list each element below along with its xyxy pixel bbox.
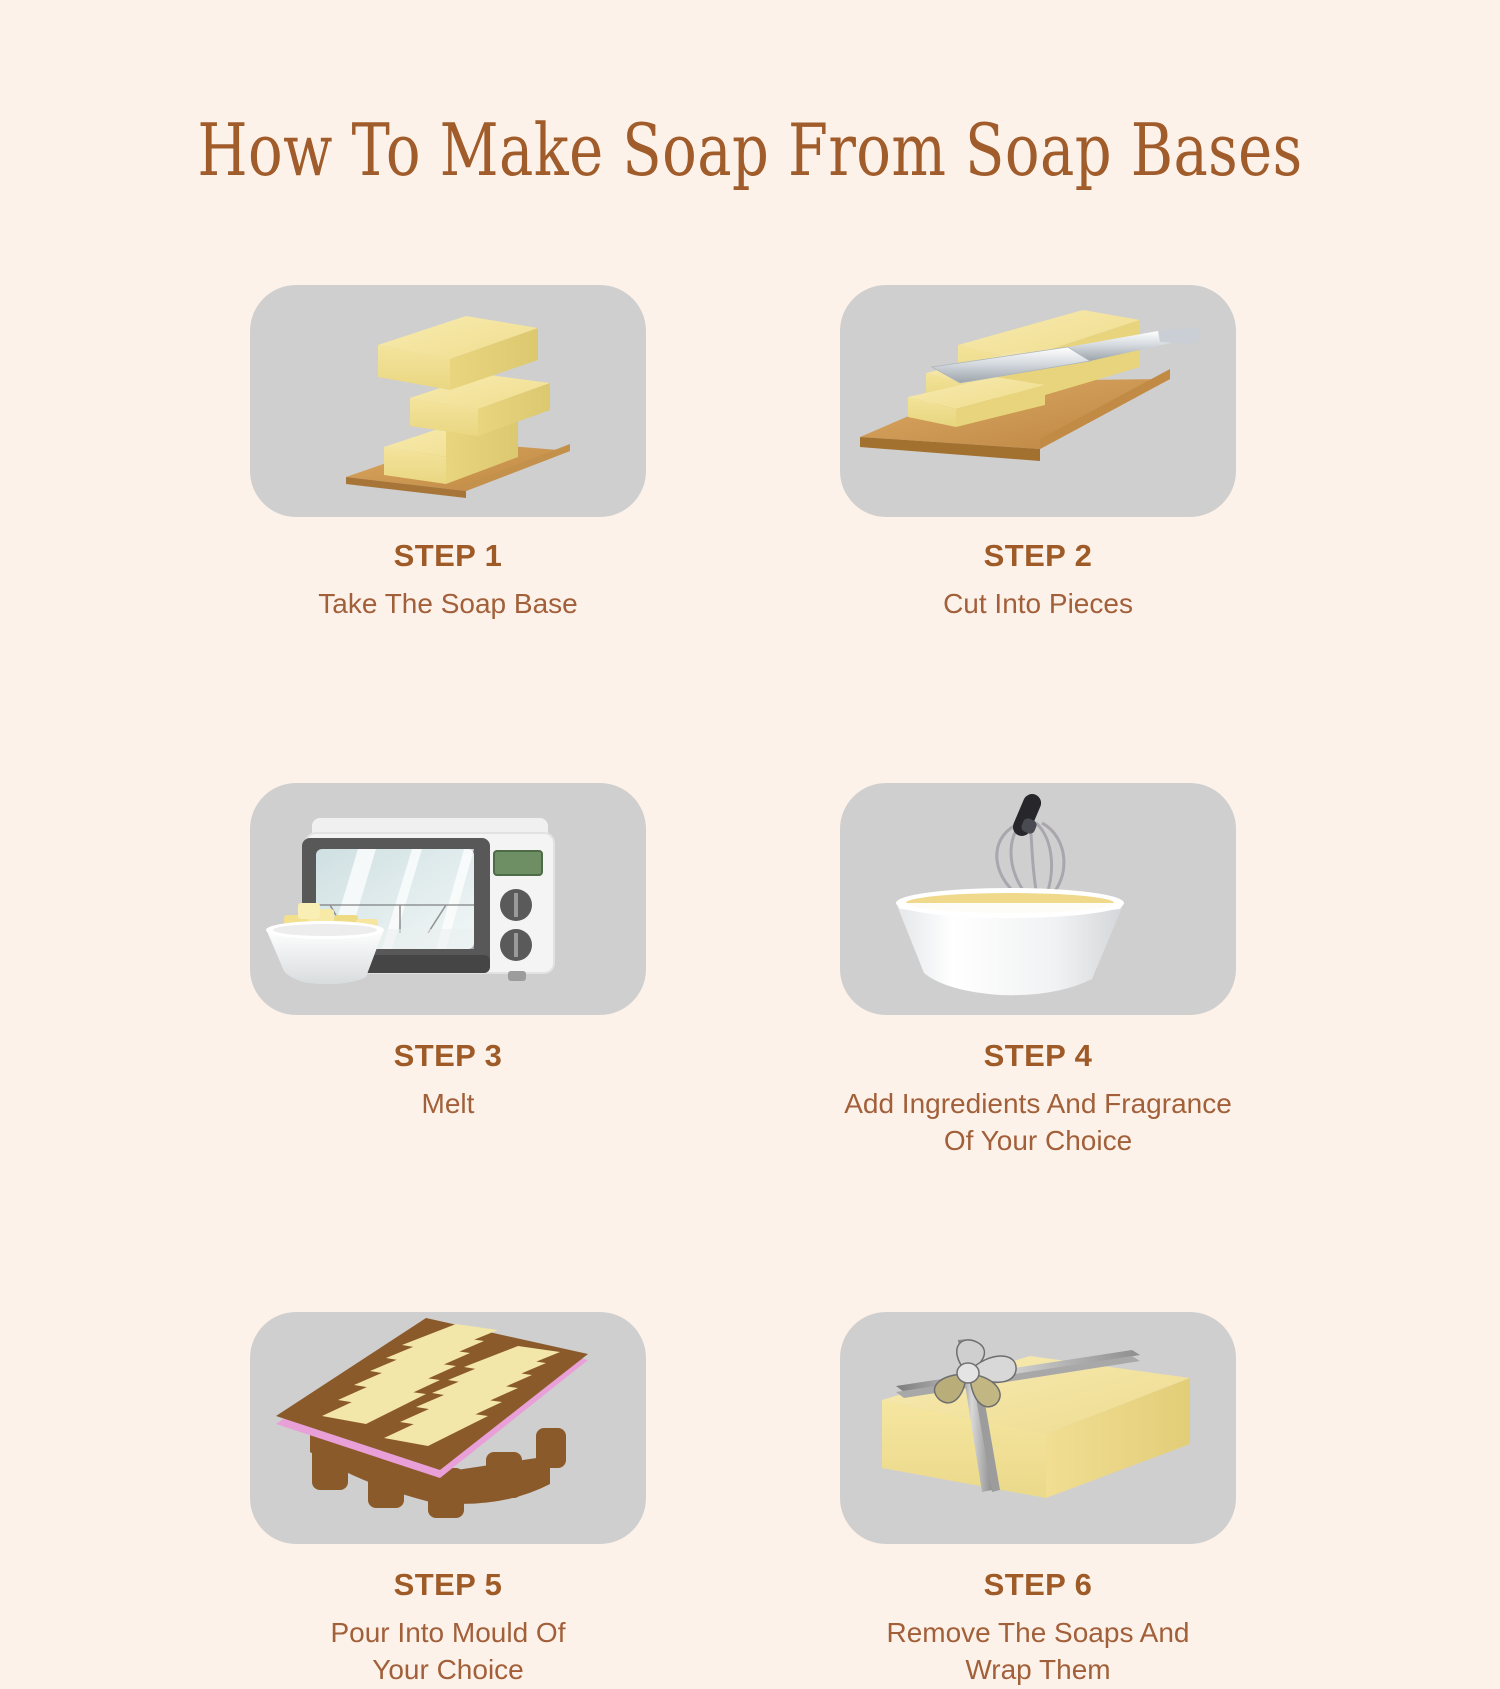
step-5-description: Pour Into Mould Of Your Choice: [330, 1615, 565, 1689]
oven-display: [494, 851, 542, 875]
step-2-illustration-card: [840, 285, 1236, 517]
step-5-illustration-card: [250, 1312, 646, 1544]
step-3-caption: STEP 3 Melt: [394, 1015, 503, 1123]
step-3-illustration-card: [250, 783, 646, 1015]
step-6-description: Remove The Soaps And Wrap Them: [886, 1615, 1189, 1689]
step-5-caption: STEP 5 Pour Into Mould Of Your Choice: [330, 1544, 565, 1689]
step-card-5: STEP 5 Pour Into Mould Of Your Choice: [248, 1312, 648, 1689]
step-2-description: Cut Into Pieces: [943, 586, 1133, 623]
step-1-label: STEP 1: [318, 537, 577, 574]
step-card-3: STEP 3 Melt: [248, 783, 648, 1160]
step-card-4: STEP 4 Add Ingredients And Fragrance Of …: [838, 783, 1238, 1160]
step-4-label: STEP 4: [844, 1037, 1232, 1074]
step-card-6: STEP 6 Remove The Soaps And Wrap Them: [838, 1312, 1238, 1689]
step-6-caption: STEP 6 Remove The Soaps And Wrap Them: [886, 1544, 1189, 1689]
mixing-bowl-whisk-icon: [840, 783, 1236, 1015]
step-card-1: STEP 1 Take The Soap Base: [248, 285, 648, 623]
step-card-2: STEP 2 Cut Into Pieces: [838, 285, 1238, 623]
step-1-description: Take The Soap Base: [318, 586, 577, 623]
step-5-label: STEP 5: [330, 1566, 565, 1603]
microwave-oven-icon: [250, 783, 646, 1015]
page-title: How To Make Soap From Soap Bases: [150, 108, 1350, 192]
step-1-illustration-card: [250, 285, 646, 517]
step-3-label: STEP 3: [394, 1037, 503, 1074]
step-2-label: STEP 2: [943, 537, 1133, 574]
step-1-caption: STEP 1 Take The Soap Base: [318, 517, 577, 623]
whisk-icon: [997, 791, 1064, 901]
step-6-label: STEP 6: [886, 1566, 1189, 1603]
infographic-page: How To Make Soap From Soap Bases: [0, 0, 1500, 1500]
mixing-bowl: [896, 888, 1124, 995]
wrapped-soap-bar-icon: [840, 1312, 1236, 1544]
stacked-soap-bars-icon: [250, 285, 646, 517]
soap-mould-tray-icon: [250, 1312, 646, 1544]
steps-grid: STEP 1 Take The Soap Base: [248, 285, 1238, 1689]
soap-cutting-icon: [840, 285, 1236, 517]
step-4-illustration-card: [840, 783, 1236, 1015]
step-6-illustration-card: [840, 1312, 1236, 1544]
step-4-caption: STEP 4 Add Ingredients And Fragrance Of …: [844, 1015, 1232, 1160]
step-2-caption: STEP 2 Cut Into Pieces: [943, 517, 1133, 623]
step-4-description: Add Ingredients And Fragrance Of Your Ch…: [844, 1086, 1232, 1160]
step-3-description: Melt: [394, 1086, 503, 1123]
